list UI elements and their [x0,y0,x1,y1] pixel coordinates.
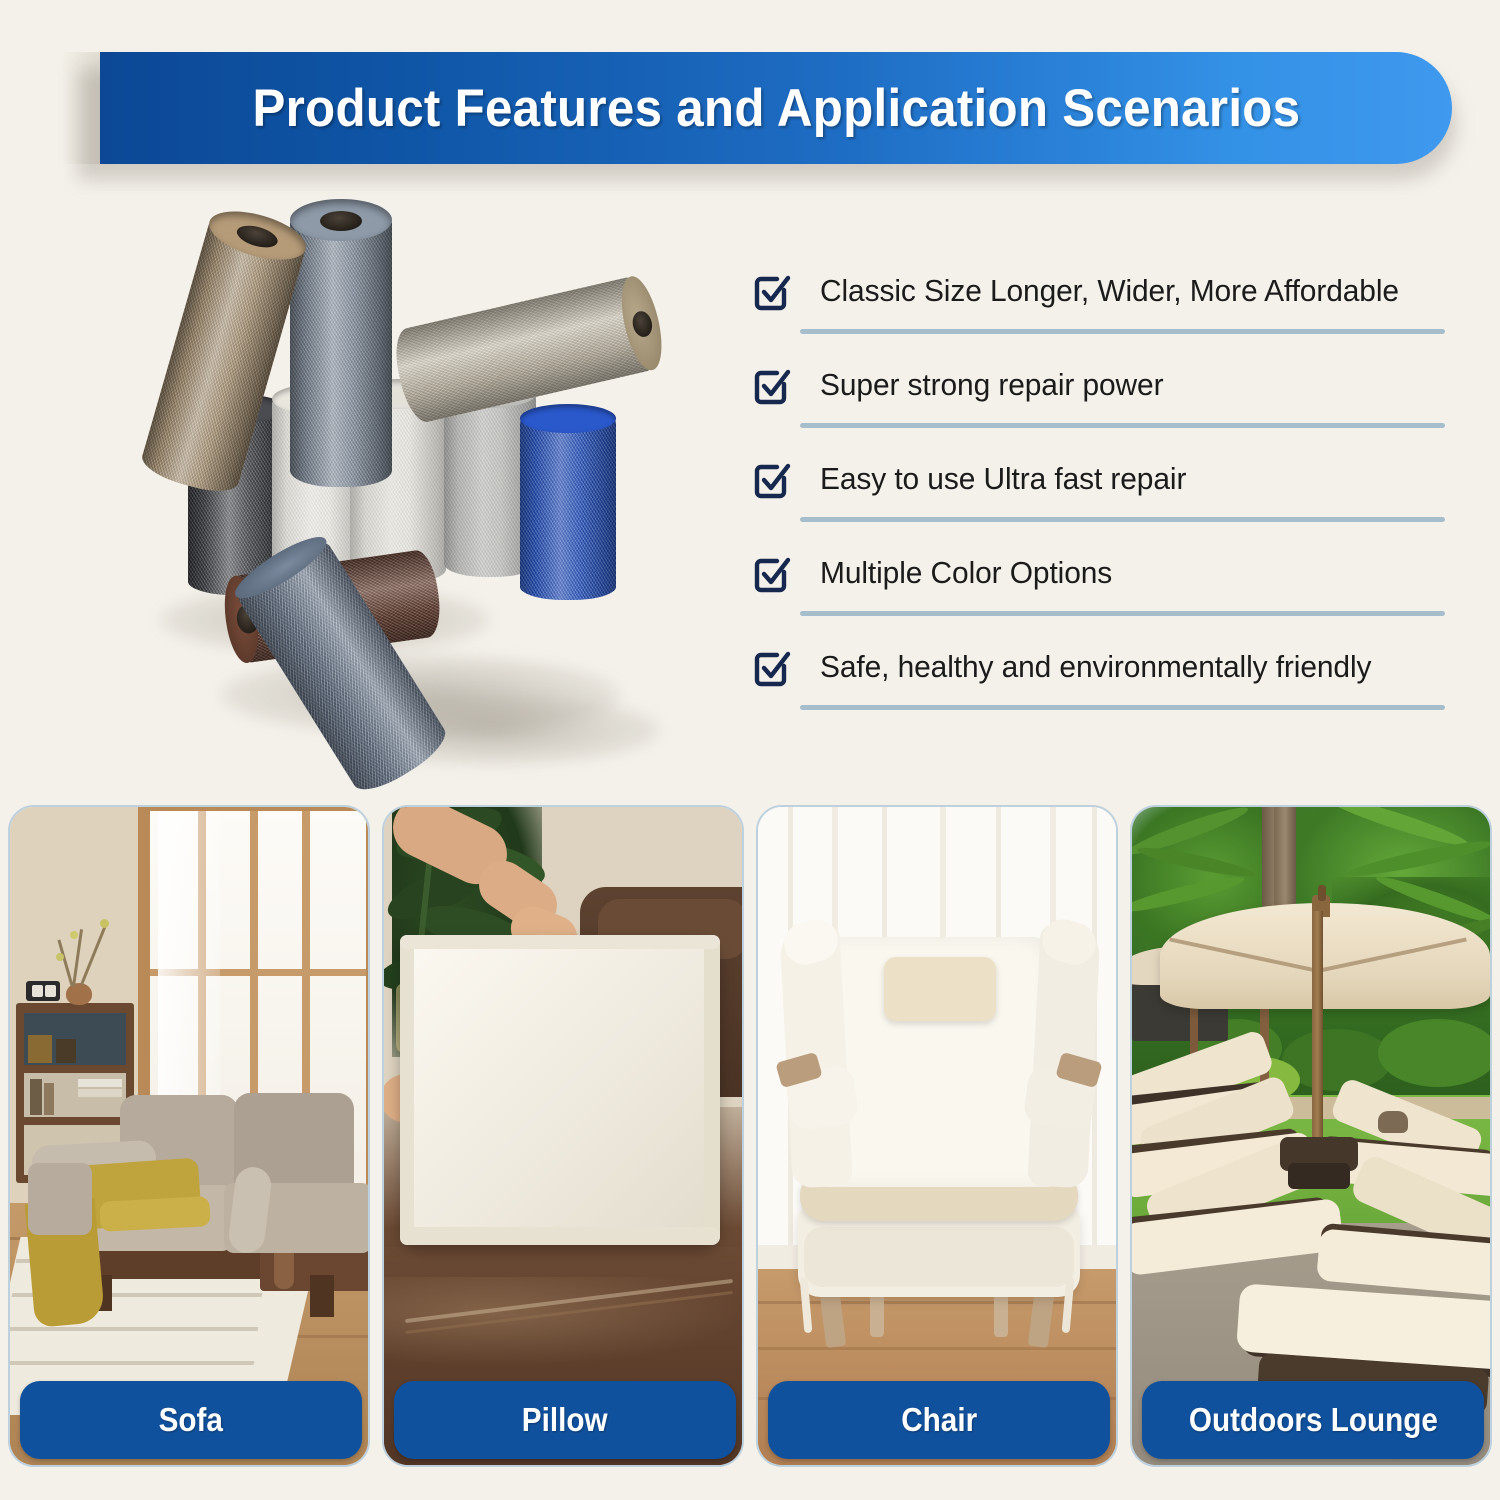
scenario-cards: Sofa [0,805,1500,1485]
feature-list: Classic Size Longer, Wider, More Afforda… [742,255,1457,725]
feature-divider [800,423,1445,428]
feature-label: Super strong repair power [820,361,1163,409]
feature-label: Easy to use Ultra fast repair [820,455,1186,503]
checkbox-checked-icon [750,271,792,313]
checkbox-checked-icon [750,647,792,689]
feature-divider [800,705,1445,710]
page-title: Product Features and Application Scenari… [252,78,1300,139]
feature-divider [800,611,1445,616]
feature-item: Super strong repair power [742,349,1457,443]
roll-core-hole [320,211,362,231]
feature-label: Classic Size Longer, Wider, More Afforda… [820,267,1399,315]
scenario-photo-pillow [384,807,742,1465]
scenario-card-sofa[interactable]: Sofa [8,805,370,1467]
feature-divider [800,517,1445,522]
scenario-card-pillow[interactable]: Pillow [382,805,744,1467]
feature-item: Easy to use Ultra fast repair [742,443,1457,537]
scenario-photo-sofa [10,807,368,1465]
tape-roll-blue [520,410,616,600]
scenario-card-outdoors-lounge[interactable]: Outdoors Lounge [1130,805,1492,1467]
scenario-label: Outdoors Lounge [1188,1401,1437,1439]
scenario-label-bar: Chair [768,1381,1110,1459]
feature-item: Multiple Color Options [742,537,1457,631]
scenario-label-bar: Sofa [20,1381,362,1459]
scenario-photo-chair [758,807,1116,1465]
scenario-label: Pillow [522,1401,608,1439]
scenario-label: Chair [901,1401,977,1439]
feature-item: Classic Size Longer, Wider, More Afforda… [742,255,1457,349]
scenario-label: Sofa [159,1401,223,1439]
feature-label: Multiple Color Options [820,549,1112,597]
scenario-label-bar: Pillow [394,1381,736,1459]
checkbox-checked-icon [750,459,792,501]
checkbox-checked-icon [750,553,792,595]
product-photo-tape-rolls [100,185,720,775]
header: Product Features and Application Scenari… [0,0,1500,200]
feature-item: Safe, healthy and environmentally friend… [742,631,1457,725]
feature-label: Safe, healthy and environmentally friend… [820,643,1371,691]
checkbox-checked-icon [750,365,792,407]
scenario-card-chair[interactable]: Chair [756,805,1118,1467]
scenario-photo-outdoors-lounge [1132,807,1490,1465]
scenario-label-bar: Outdoors Lounge [1142,1381,1484,1459]
header-banner: Product Features and Application Scenari… [100,52,1452,164]
feature-divider [800,329,1445,334]
